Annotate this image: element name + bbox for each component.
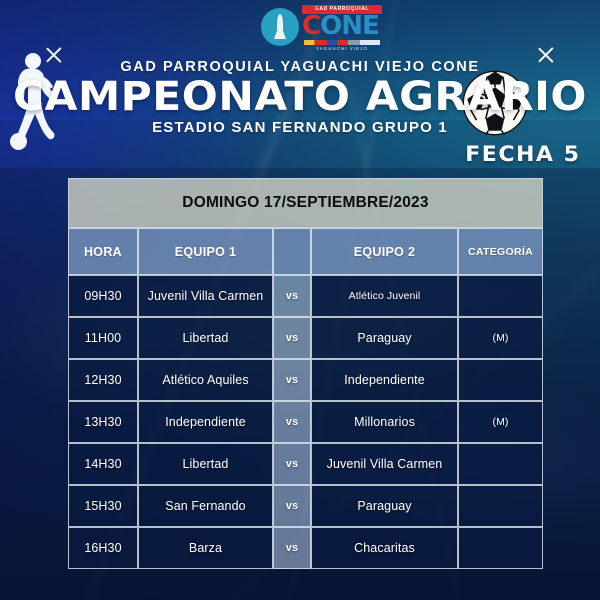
table-row: 15H30San FernandovsParaguay xyxy=(68,485,543,527)
cell-equipo2: Juvenil Villa Carmen xyxy=(311,443,458,485)
header-subtitle: ESTADIO SAN FERNANDO GRUPO 1 xyxy=(0,118,600,137)
cell-equipo1: Libertad xyxy=(138,443,273,485)
cell-categoria xyxy=(458,527,543,569)
table-date-row: DOMINGO 17/SEPTIEMBRE/2023 xyxy=(68,178,543,228)
cell-equipo1: San Fernando xyxy=(138,485,273,527)
column-header-categoria: CATEGORÍA xyxy=(458,228,543,275)
cone-logo: GAD PARROQUIAL CONE YAGUACHI VIEJO xyxy=(255,2,385,54)
table-row: 13H30IndependientevsMillonarios(M) xyxy=(68,401,543,443)
cell-equipo2: Paraguay xyxy=(311,317,458,359)
cell-hora: 13H30 xyxy=(68,401,138,443)
cell-vs: vs xyxy=(273,443,311,485)
cell-categoria: (M) xyxy=(458,317,543,359)
cell-vs: vs xyxy=(273,317,311,359)
poster-canvas: GAD PARROQUIAL CONE YAGUACHI VIEJO GAD P xyxy=(0,0,600,600)
logo-subtitle: YAGUACHI VIEJO xyxy=(302,46,382,51)
logo-letters-one: ONE xyxy=(320,11,379,41)
table-body: 09H30Juvenil Villa CarmenvsAtlético Juve… xyxy=(68,275,543,569)
cell-vs: vs xyxy=(273,401,311,443)
column-header-hora: HORA xyxy=(68,228,138,275)
column-header-equipo1: EQUIPO 1 xyxy=(138,228,273,275)
table-row: 16H30BarzavsChacaritas xyxy=(68,527,543,569)
cell-vs: vs xyxy=(273,359,311,401)
cell-categoria xyxy=(458,485,543,527)
headline-block: GAD PARROQUIAL YAGUACHI VIEJO CONE CAMPE… xyxy=(0,58,600,137)
cell-equipo1: Juvenil Villa Carmen xyxy=(138,275,273,317)
cell-equipo1: Libertad xyxy=(138,317,273,359)
table-row: 09H30Juvenil Villa CarmenvsAtlético Juve… xyxy=(68,275,543,317)
tower-icon xyxy=(274,14,286,40)
cell-equipo1: Atlético Aquiles xyxy=(138,359,273,401)
column-header-equipo2: EQUIPO 2 xyxy=(311,228,458,275)
cell-vs: vs xyxy=(273,485,311,527)
schedule-table: DOMINGO 17/SEPTIEMBRE/2023 HORA EQUIPO 1… xyxy=(68,178,543,569)
cell-categoria xyxy=(458,275,543,317)
cell-categoria xyxy=(458,443,543,485)
logo-wordmark: CONE xyxy=(302,13,379,39)
cell-categoria xyxy=(458,359,543,401)
cell-hora: 12H30 xyxy=(68,359,138,401)
logo-letter-c: C xyxy=(302,11,320,41)
matchday-badge: FECHA 5 xyxy=(466,142,581,166)
cell-vs: vs xyxy=(273,275,311,317)
cell-hora: 15H30 xyxy=(68,485,138,527)
cell-equipo2: Millonarios xyxy=(311,401,458,443)
table-row: 11H00LibertadvsParaguay(M) xyxy=(68,317,543,359)
logo-color-stripes xyxy=(304,40,380,45)
cell-equipo2: Chacaritas xyxy=(311,527,458,569)
cell-equipo2: Independiente xyxy=(311,359,458,401)
cell-hora: 11H00 xyxy=(68,317,138,359)
table-row: 14H30LibertadvsJuvenil Villa Carmen xyxy=(68,443,543,485)
cell-equipo1: Independiente xyxy=(138,401,273,443)
page-title: CAMPEONATO AGRARIO xyxy=(0,76,600,118)
table-header-row: HORA EQUIPO 1 EQUIPO 2 CATEGORÍA xyxy=(68,228,543,275)
cell-categoria: (M) xyxy=(458,401,543,443)
cell-hora: 14H30 xyxy=(68,443,138,485)
cell-equipo2: Atlético Juvenil xyxy=(311,275,458,317)
cell-hora: 09H30 xyxy=(68,275,138,317)
cell-hora: 16H30 xyxy=(68,527,138,569)
cell-vs: vs xyxy=(273,527,311,569)
table-date-text: DOMINGO 17/SEPTIEMBRE/2023 xyxy=(182,194,428,212)
cell-equipo1: Barza xyxy=(138,527,273,569)
cell-equipo2: Paraguay xyxy=(311,485,458,527)
table-row: 12H30Atlético AquilesvsIndependiente xyxy=(68,359,543,401)
column-header-vs xyxy=(273,228,311,275)
